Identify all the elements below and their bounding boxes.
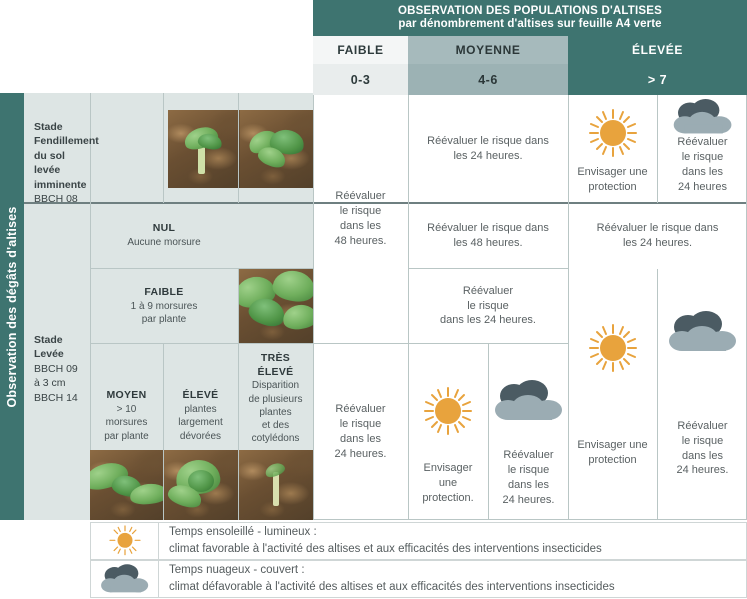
legend-cloudy-text: Temps nuageux - couvert : climat défavor… xyxy=(159,562,615,595)
cell-faible-stage08-text: Réévaluer le risque dans les 48 heures. xyxy=(335,189,387,249)
divider-bottom-edge xyxy=(313,519,747,520)
column-header-elevee: ÉLEVÉE xyxy=(568,36,747,64)
legend-cloudy-line1: Temps nuageux - couvert : xyxy=(169,562,615,579)
cell-faible-low-text: Réévaluer le risque dans les 24 heures. xyxy=(335,402,387,462)
column-header-faible: FAIBLE xyxy=(313,36,408,64)
cell-moyenne-row2: Réévaluer le risque dans les 48 heures. xyxy=(408,204,568,268)
levee-line1: Stade xyxy=(34,334,63,346)
column-value-faible: 0-3 xyxy=(313,64,408,95)
cell-moyenne-row2-text: Réévaluer le risque dans les 48 heures. xyxy=(427,221,549,251)
levee-line5: BBCH 14 xyxy=(34,391,90,405)
cell-moyenne-row3: Réévaluer le risque dans les 24 heures. xyxy=(408,269,568,343)
cell-elevee-row2-text: Réévaluer le risque dans les 24 heures. xyxy=(597,221,719,251)
damage-faible-desc2: par plante xyxy=(142,313,186,326)
vertical-axis-label: Observation des dégâts d'altises xyxy=(5,206,19,407)
column-header-moyenne: MOYENNE xyxy=(408,36,568,64)
photo-soil-cracking-2 xyxy=(240,110,313,188)
photo-tres-eleve-damage xyxy=(239,450,313,520)
cell-elevee-row1-cloud-text: Réévaluer le risque dans les 24 heures xyxy=(677,135,727,195)
cell-moyenne-row1-text: Réévaluer le risque dans les 24 heures. xyxy=(427,134,549,164)
divider-col-faible-right xyxy=(408,95,409,520)
damage-treseleve-desc3: plantes xyxy=(259,406,291,419)
cell-moyenne-row4-sun: Envisager une protection. xyxy=(408,344,488,520)
cell-elevee-low-cloud-text: Réévaluer le risque dans les 24 heures. xyxy=(677,419,729,479)
damage-level-faible: FAIBLE 1 à 9 morsures par plante xyxy=(90,269,238,343)
damage-level-eleve: ÉLEVÉ plantes largement dévorées xyxy=(163,383,238,449)
damage-moyen-desc3: par plante xyxy=(104,430,148,443)
damage-nul-title: NUL xyxy=(153,222,175,236)
cell-elevee-low-sun-text: Envisager une protection xyxy=(577,438,647,468)
damage-level-nul: NUL Aucune morsure xyxy=(90,203,238,268)
legend-sunny-line2: climat favorable à l'activité des altise… xyxy=(169,541,602,558)
divider-right-r3r4 xyxy=(313,343,568,344)
cell-moyenne-row4-cloud: Réévaluer le risque dans les 24 heures. xyxy=(489,344,568,520)
damage-eleve-title: ÉLEVÉ xyxy=(183,389,219,403)
legend-sunny-line1: Temps ensoleillé - lumineux : xyxy=(169,524,602,541)
cloud-icon xyxy=(492,380,566,422)
cell-faible-stage08: Réévaluer le risque dans les 48 heures. xyxy=(313,95,408,343)
photo-eleve-damage xyxy=(164,450,238,520)
divider-right-stage xyxy=(313,202,747,204)
divider-col-moyenne-right xyxy=(568,95,569,520)
cloud-icon xyxy=(666,311,740,353)
cell-elevee-low-sun: Envisager une protection xyxy=(568,269,657,520)
cell-elevee-row1-sun: Envisager une protection xyxy=(568,95,657,203)
stage08-line4: BBCH 08 xyxy=(34,192,90,206)
levee-line3: BBCH 09 xyxy=(34,362,90,376)
legend-row-cloudy: Temps nuageux - couvert : climat défavor… xyxy=(90,560,747,598)
column-value-elevee: > 7 xyxy=(568,64,747,95)
damage-treseleve-desc5: cotylédons xyxy=(252,432,300,445)
photo-faible-bites xyxy=(239,269,313,343)
damage-faible-desc1: 1 à 9 morsures xyxy=(131,300,198,313)
legend-sun-icon-wrap xyxy=(91,523,159,559)
cell-elevee-row1-cloud: Réévaluer le risque dans les 24 heures xyxy=(658,95,747,203)
cell-moyenne-row4-sun-text: Envisager une protection. xyxy=(422,461,473,506)
cell-moyenne-row1: Réévaluer le risque dans les 24 heures. xyxy=(408,95,568,203)
stage08-line1: Stade xyxy=(34,121,63,133)
damage-nul-desc: Aucune morsure xyxy=(127,236,200,249)
cell-moyenne-row3-text: Réévaluer le risque dans les 24 heures. xyxy=(440,284,536,329)
divider-elevee-split-bot xyxy=(657,269,658,520)
divider-photo-1 xyxy=(163,93,164,203)
sun-icon xyxy=(417,385,479,443)
damage-faible-title: FAIBLE xyxy=(144,286,183,300)
sun-icon xyxy=(103,524,147,558)
header-title-band: OBSERVATION DES POPULATIONS D'ALTISES pa… xyxy=(313,0,747,36)
damage-treseleve-desc1: Disparition xyxy=(252,379,299,392)
damage-moyen-desc2: morsures xyxy=(106,416,148,429)
damage-eleve-desc3: dévorées xyxy=(180,430,221,443)
cell-faible-low: Réévaluer le risque dans les 24 heures. xyxy=(313,344,408,520)
cloud-icon xyxy=(666,99,740,135)
vertical-axis-label-bar: Observation des dégâts d'altises xyxy=(0,93,24,520)
cell-elevee-low-cloud: Réévaluer le risque dans les 24 heures. xyxy=(658,269,747,520)
divider-faible-moyen xyxy=(90,343,313,344)
legend-sunny-text: Temps ensoleillé - lumineux : climat fav… xyxy=(159,524,602,557)
infographic-root: OBSERVATION DES POPULATIONS D'ALTISES pa… xyxy=(0,0,747,599)
legend-row-sunny: Temps ensoleillé - lumineux : climat fav… xyxy=(90,522,747,560)
damage-treseleve-desc2: de plusieurs xyxy=(249,393,303,406)
legend-cloudy-line2: climat défavorable à l'activité des alti… xyxy=(169,579,615,596)
levee-line2: Levée xyxy=(34,348,64,360)
legend-cloud-icon-wrap xyxy=(91,561,159,597)
column-value-moyenne: 4-6 xyxy=(408,64,568,95)
photo-soil-cracking-1 xyxy=(168,110,240,188)
header-title-line2: par dénombrement d'altises sur feuille A… xyxy=(398,18,661,31)
photo-moyen-damage xyxy=(90,450,163,520)
damage-eleve-desc1: plantes xyxy=(184,403,216,416)
cell-elevee-row1-sun-text: Envisager une protection xyxy=(577,165,647,195)
damage-moyen-desc1: > 10 xyxy=(117,403,137,416)
header-title-line1: OBSERVATION DES POPULATIONS D'ALTISES xyxy=(398,5,662,18)
damage-treseleve-title2: ÉLEVÉ xyxy=(258,366,294,380)
stage-label-levee: Stade Levée BBCH 09 à 3 cm BBCH 14 xyxy=(24,325,90,405)
stage08-line2: Fendillement du sol xyxy=(34,135,99,161)
sun-icon xyxy=(582,322,644,380)
levee-line4: à 3 cm xyxy=(34,376,90,390)
divider-elevee-split-top xyxy=(657,95,658,203)
stage08-line3: levée imminente xyxy=(34,164,87,190)
sun-icon xyxy=(582,107,644,165)
cell-elevee-row2: Réévaluer le risque dans les 24 heures. xyxy=(568,204,747,268)
damage-level-tres-eleve: TRÈS ÉLEVÉ Disparition de plusieurs plan… xyxy=(238,348,313,449)
damage-treseleve-desc4: et des xyxy=(262,419,289,432)
divider-moyenne-split xyxy=(488,344,489,520)
divider-photo-2 xyxy=(238,93,239,203)
damage-level-moyen: MOYEN > 10 morsures par plante xyxy=(90,383,163,449)
stage-label-bbch08: Stade Fendillement du sol levée imminent… xyxy=(24,112,90,207)
damage-eleve-desc2: largement xyxy=(178,416,222,429)
damage-treseleve-title1: TRÈS xyxy=(261,352,290,366)
cell-moyenne-row4-cloud-text: Réévaluer le risque dans les 24 heures. xyxy=(503,448,555,508)
divider-right-r2r3 xyxy=(408,268,568,269)
cloud-icon xyxy=(99,563,151,595)
damage-moyen-title: MOYEN xyxy=(106,389,146,403)
divider-col-faible-left xyxy=(313,95,314,520)
